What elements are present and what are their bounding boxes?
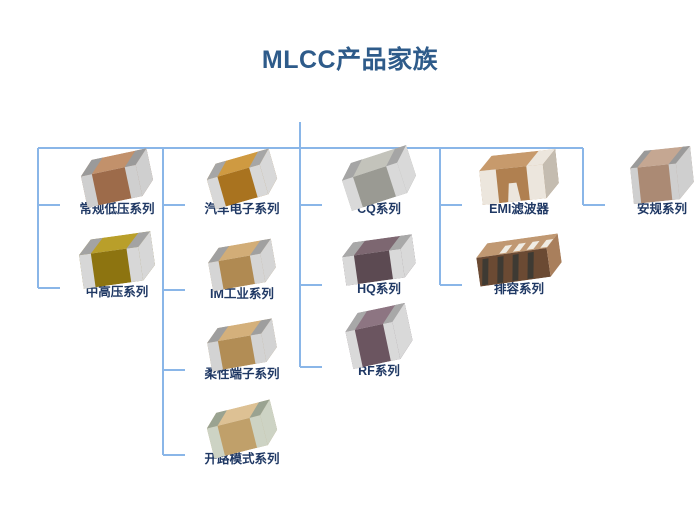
mlcc-chip [204, 399, 281, 458]
rf-series-label: RF系列 [304, 365, 454, 379]
regular-low-voltage-chip [82, 155, 152, 201]
mlcc-chip [203, 148, 280, 209]
cq-series-chip [343, 155, 415, 201]
array-capacitor-label: 排容系列 [444, 283, 594, 297]
branch-4-spine [439, 148, 441, 285]
node-automotive-electronics[interactable]: 汽车电子系列 [167, 157, 317, 217]
flexible-terminal-chip [208, 324, 276, 366]
automotive-electronics-chip [208, 157, 276, 201]
mlcc-chip-square [628, 146, 695, 204]
mlcc-chip [77, 231, 157, 289]
hq-series-label: HQ系列 [304, 283, 454, 297]
node-cq-series[interactable]: CQ系列 [304, 155, 454, 217]
node-rf-series[interactable]: RF系列 [304, 309, 454, 379]
rf-series-chip [347, 309, 411, 363]
im-industrial-chip [209, 244, 275, 286]
mid-high-voltage-chip [80, 236, 154, 284]
branch-3-spine [299, 148, 301, 367]
node-emi-filter[interactable]: EMI滤波器 [444, 153, 594, 217]
emi-filter-chip [480, 153, 558, 201]
branch-1-spine [37, 148, 39, 288]
branch-5-spine [582, 148, 584, 205]
mlcc-chip [206, 239, 278, 292]
node-safety-series[interactable]: 安规系列 [587, 149, 700, 217]
mlcc-chip [338, 145, 421, 211]
safety-series-chip [631, 149, 693, 201]
mlcc-chip [340, 234, 417, 286]
emi-filter-label: EMI滤波器 [444, 203, 594, 217]
automotive-electronics-label: 汽车电子系列 [167, 203, 317, 217]
node-flexible-terminal[interactable]: 柔性端子系列 [167, 324, 317, 382]
open-mode-label: 开路模式系列 [167, 453, 317, 467]
mlcc-chip [205, 318, 279, 371]
flexible-terminal-label: 柔性端子系列 [167, 368, 317, 382]
node-hq-series[interactable]: HQ系列 [304, 239, 454, 297]
safety-series-label: 安规系列 [587, 203, 700, 217]
branch-2-spine [162, 148, 164, 455]
node-open-mode[interactable]: 开路模式系列 [167, 407, 317, 467]
hq-series-chip [343, 239, 415, 281]
array-capacitor-chip [477, 239, 561, 281]
page-title: MLCC产品家族 [0, 40, 700, 76]
node-im-industrial[interactable]: IM工业系列 [167, 244, 317, 302]
trunk-bar [38, 147, 583, 149]
cq-series-label: CQ系列 [304, 203, 454, 217]
mlcc-chip [342, 303, 416, 369]
trunk-stem [299, 122, 301, 148]
mlcc-chip [78, 148, 156, 208]
node-array-capacitor[interactable]: 排容系列 [444, 239, 594, 297]
im-industrial-label: IM工业系列 [167, 288, 317, 302]
emi-filter [478, 149, 561, 205]
array-capacitor [474, 233, 563, 286]
open-mode-chip [208, 407, 276, 451]
